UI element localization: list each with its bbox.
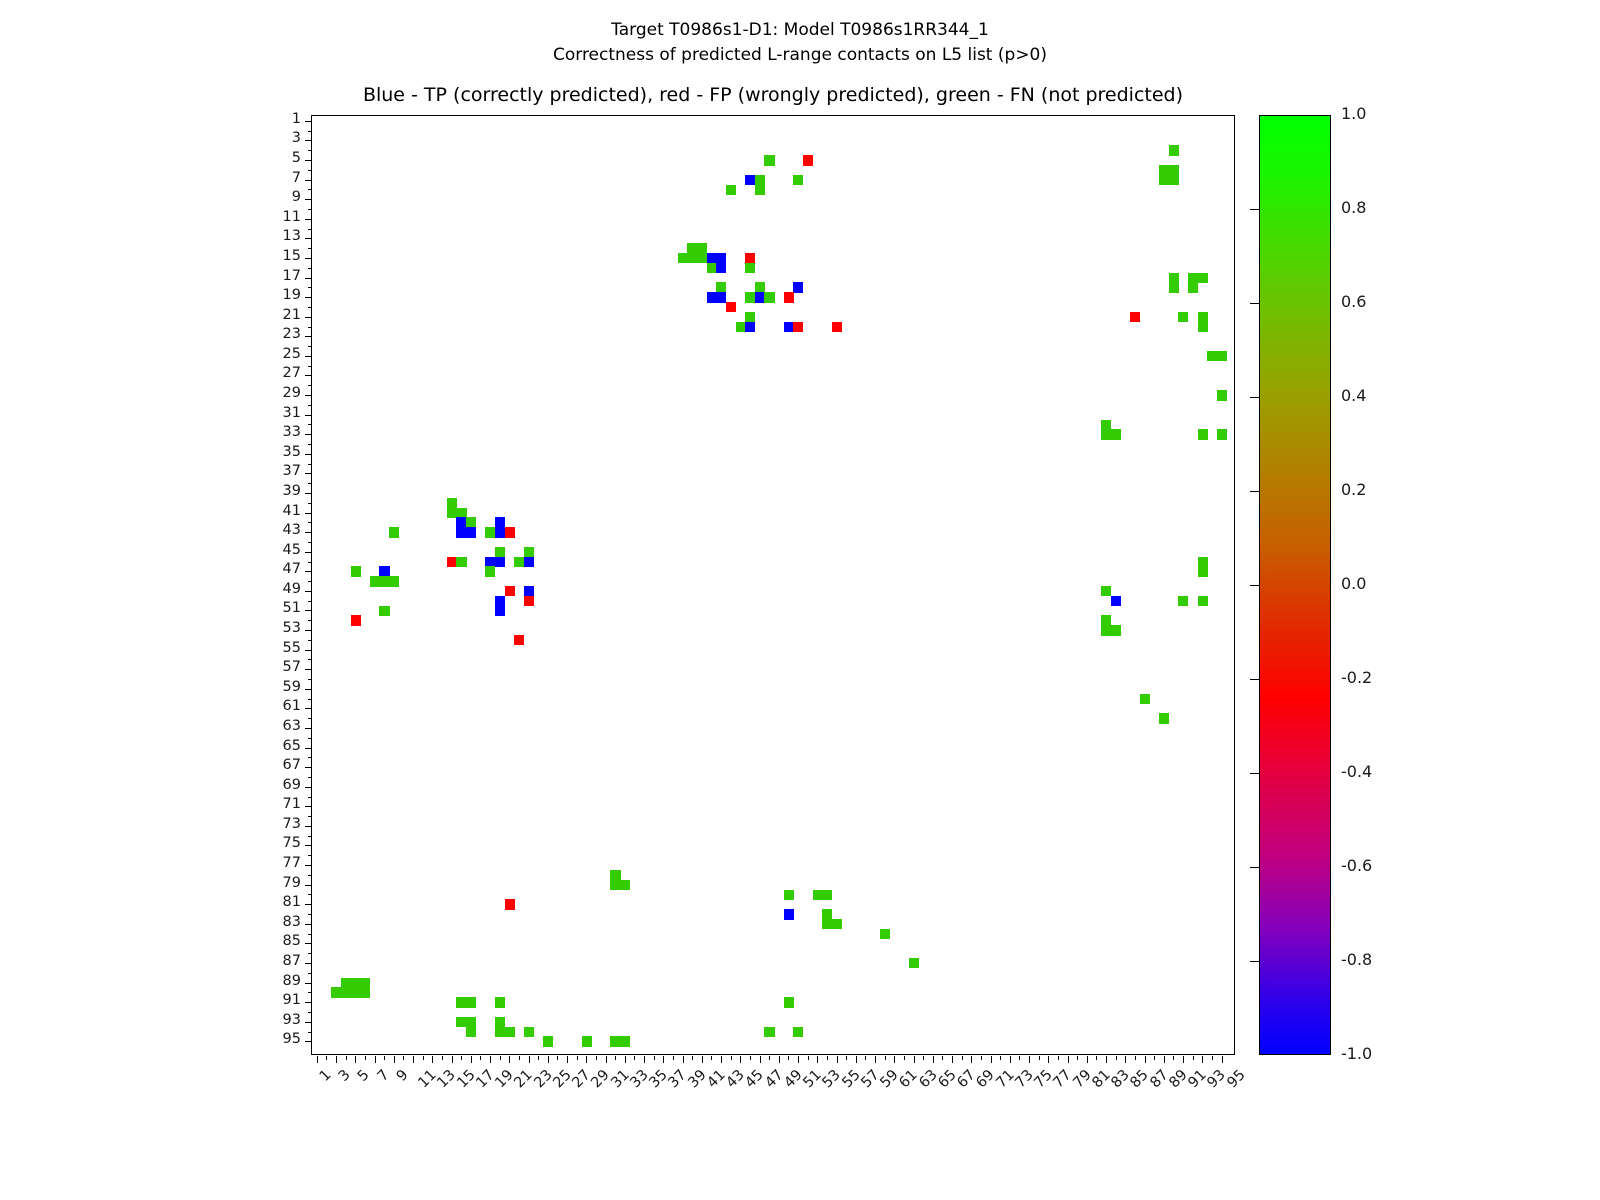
x-tick [317, 1056, 318, 1063]
x-tick-label: 95 [1224, 1067, 1248, 1091]
x-minor-tick [788, 1056, 789, 1060]
y-tick-label: 27 [253, 365, 301, 381]
contact-cell-tp [716, 263, 726, 273]
contact-cell-fp [784, 292, 794, 302]
x-tick [471, 1056, 472, 1063]
colorbar-tick-label: -0.8 [1341, 950, 1372, 969]
contact-cell-fn [1188, 282, 1198, 292]
y-tick-label: 9 [253, 189, 301, 205]
y-tick-label: 43 [253, 522, 301, 538]
y-tick [305, 983, 312, 984]
x-minor-tick [615, 1056, 616, 1060]
x-tick [1048, 1056, 1049, 1063]
contact-cell-fn [745, 263, 755, 273]
x-minor-tick [1173, 1056, 1174, 1060]
x-minor-tick [1000, 1056, 1001, 1060]
title-line-2: Correctness of predicted L-range contact… [0, 43, 1600, 68]
y-minor-tick [308, 992, 312, 993]
x-tick [1068, 1056, 1069, 1063]
y-tick [305, 317, 312, 318]
contact-map-figure: Target T0986s1-D1: Model T0986s1RR344_1 … [0, 0, 1600, 1200]
y-tick-label: 5 [253, 150, 301, 166]
contact-cell-tp [784, 909, 794, 919]
contact-cell-tp [495, 606, 505, 616]
y-tick-label: 19 [253, 287, 301, 303]
contact-cell-fp [726, 302, 736, 312]
x-minor-tick [1096, 1056, 1097, 1060]
contact-cell-fn [1169, 175, 1179, 185]
y-tick-label: 39 [253, 483, 301, 499]
contact-cell-fn [755, 185, 765, 195]
x-tick [683, 1056, 684, 1063]
x-tick [548, 1056, 549, 1063]
y-tick-label: 11 [253, 209, 301, 225]
y-minor-tick [308, 953, 312, 954]
contact-cell-fn [764, 292, 774, 302]
x-tick [567, 1056, 568, 1063]
y-tick [305, 669, 312, 670]
x-tick [1125, 1056, 1126, 1063]
contact-cell-fn [351, 566, 361, 576]
y-minor-tick [308, 836, 312, 837]
contact-cell-fn [726, 185, 736, 195]
contact-cell-fn [1159, 713, 1169, 723]
x-minor-tick [654, 1056, 655, 1060]
y-tick-label: 51 [253, 600, 301, 616]
y-tick [305, 552, 312, 553]
contact-cell-fn [832, 919, 842, 929]
y-tick [305, 845, 312, 846]
contact-cell-fn [909, 958, 919, 968]
contact-cell-fn [1178, 312, 1188, 322]
x-minor-tick [365, 1056, 366, 1060]
figure-title: Target T0986s1-D1: Model T0986s1RR344_1 … [0, 18, 1600, 68]
y-tick [305, 336, 312, 337]
colorbar-tick [1250, 773, 1259, 774]
y-minor-tick [308, 307, 312, 308]
contact-cell-fn [466, 997, 476, 1007]
colorbar-tick-label: -1.0 [1341, 1044, 1372, 1063]
y-tick [305, 826, 312, 827]
contact-cell-fp [505, 586, 515, 596]
x-tick [837, 1056, 838, 1063]
y-tick-label: 65 [253, 738, 301, 754]
x-minor-tick [942, 1056, 943, 1060]
y-tick [305, 748, 312, 749]
contact-cell-fn [784, 890, 794, 900]
x-tick [606, 1056, 607, 1063]
colorbar-tick-label: 1.0 [1341, 104, 1366, 123]
x-tick [933, 1056, 934, 1063]
x-minor-tick [1058, 1056, 1059, 1060]
contact-cell-fn [389, 527, 399, 537]
x-minor-tick [1212, 1056, 1213, 1060]
y-minor-tick [308, 366, 312, 367]
contact-cell-fn [466, 1027, 476, 1037]
y-tick [305, 434, 312, 435]
contact-cell-fn [456, 557, 466, 567]
x-minor-tick [1116, 1056, 1117, 1060]
contact-cell-fp [514, 635, 524, 645]
x-tick-label: 7 [374, 1067, 392, 1085]
x-minor-tick [577, 1056, 578, 1060]
x-tick-label: 5 [355, 1067, 373, 1085]
y-tick [305, 258, 312, 259]
contact-cell-fn [1198, 322, 1208, 332]
x-minor-tick [346, 1056, 347, 1060]
x-tick [432, 1056, 433, 1063]
x-tick [355, 1056, 356, 1063]
x-tick [817, 1056, 818, 1063]
contact-map-plot-area[interactable] [311, 115, 1235, 1055]
y-minor-tick [308, 209, 312, 210]
colorbar-tick [1250, 491, 1259, 492]
y-minor-tick [308, 699, 312, 700]
y-tick-label: 73 [253, 816, 301, 832]
x-tick [991, 1056, 992, 1063]
colorbar-tick-label: 0.2 [1341, 480, 1366, 499]
contact-cell-fn [389, 576, 399, 586]
y-tick-label: 67 [253, 757, 301, 773]
y-tick-label: 31 [253, 405, 301, 421]
y-tick [305, 1022, 312, 1023]
y-tick-label: 45 [253, 542, 301, 558]
contact-cell-fn [1217, 429, 1227, 439]
x-tick [336, 1056, 337, 1063]
x-tick [1010, 1056, 1011, 1063]
y-tick [305, 708, 312, 709]
y-minor-tick [308, 131, 312, 132]
x-minor-tick [557, 1056, 558, 1060]
x-minor-tick [538, 1056, 539, 1060]
y-minor-tick [308, 424, 312, 425]
y-minor-tick [308, 483, 312, 484]
colorbar-tick [1250, 679, 1259, 680]
y-tick [305, 963, 312, 964]
y-minor-tick [308, 1012, 312, 1013]
y-minor-tick [308, 464, 312, 465]
y-minor-tick [308, 1032, 312, 1033]
y-minor-tick [308, 914, 312, 915]
y-tick-label: 21 [253, 307, 301, 323]
y-minor-tick [308, 718, 312, 719]
contact-cell-fn [793, 175, 803, 185]
y-tick [305, 630, 312, 631]
contact-cell-fn [582, 1036, 592, 1046]
y-tick [305, 356, 312, 357]
colorbar-tick [1250, 209, 1259, 210]
y-minor-tick [308, 444, 312, 445]
y-tick-label: 85 [253, 933, 301, 949]
x-minor-tick [923, 1056, 924, 1060]
y-minor-tick [308, 248, 312, 249]
x-tick [1087, 1056, 1088, 1063]
y-minor-tick [308, 150, 312, 151]
y-tick-label: 71 [253, 796, 301, 812]
y-tick-label: 93 [253, 1012, 301, 1028]
contact-cell-tp [524, 557, 534, 567]
x-tick [760, 1056, 761, 1063]
y-tick [305, 1002, 312, 1003]
y-tick [305, 904, 312, 905]
y-minor-tick [308, 797, 312, 798]
y-tick-label: 79 [253, 875, 301, 891]
contact-cell-fn [379, 606, 389, 616]
y-tick-label: 35 [253, 444, 301, 460]
x-tick [644, 1056, 645, 1063]
y-minor-tick [308, 522, 312, 523]
contact-cell-fn [880, 929, 890, 939]
contact-cell-fn [1198, 566, 1208, 576]
y-tick [305, 297, 312, 298]
y-tick-label: 89 [253, 973, 301, 989]
y-minor-tick [308, 405, 312, 406]
y-tick [305, 865, 312, 866]
y-tick [305, 650, 312, 651]
contact-cell-fn [1169, 145, 1179, 155]
y-tick-label: 87 [253, 953, 301, 969]
y-tick [305, 454, 312, 455]
x-minor-tick [750, 1056, 751, 1060]
y-tick-label: 77 [253, 855, 301, 871]
colorbar [1259, 115, 1331, 1055]
x-minor-tick [1154, 1056, 1155, 1060]
colorbar-tick [1250, 867, 1259, 868]
x-tick [1183, 1056, 1184, 1063]
y-minor-tick [308, 679, 312, 680]
contact-cell-fn [495, 997, 505, 1007]
contact-cell-fn [764, 1027, 774, 1037]
x-tick [490, 1056, 491, 1063]
x-minor-tick [461, 1056, 462, 1060]
y-tick [305, 199, 312, 200]
contact-cell-fn [485, 566, 495, 576]
y-tick-label: 63 [253, 718, 301, 734]
contact-cell-fp [803, 155, 813, 165]
x-minor-tick [865, 1056, 866, 1060]
contact-cell-fp [351, 615, 361, 625]
x-minor-tick [403, 1056, 404, 1060]
y-tick-label: 69 [253, 777, 301, 793]
y-tick-label: 23 [253, 326, 301, 342]
y-minor-tick [308, 346, 312, 347]
y-minor-tick [308, 875, 312, 876]
contact-cell-fn [524, 1027, 534, 1037]
contact-cell-tp [1111, 596, 1121, 606]
x-minor-tick [1019, 1056, 1020, 1060]
y-minor-tick [308, 855, 312, 856]
x-minor-tick [711, 1056, 712, 1060]
y-minor-tick [308, 659, 312, 660]
y-tick [305, 219, 312, 220]
y-minor-tick [308, 503, 312, 504]
x-minor-tick [769, 1056, 770, 1060]
y-tick [305, 375, 312, 376]
y-minor-tick [308, 894, 312, 895]
x-tick [529, 1056, 530, 1063]
contact-cell-fn [1217, 351, 1227, 361]
contact-cell-fn [1111, 429, 1121, 439]
y-tick-label: 29 [253, 385, 301, 401]
x-tick [856, 1056, 857, 1063]
colorbar-tick-label: 0.4 [1341, 386, 1366, 405]
y-minor-tick [308, 640, 312, 641]
y-minor-tick [308, 268, 312, 269]
y-tick-label: 61 [253, 698, 301, 714]
y-minor-tick [308, 620, 312, 621]
contact-cell-fn [1198, 429, 1208, 439]
x-tick [413, 1056, 414, 1063]
y-tick-label: 55 [253, 640, 301, 656]
y-minor-tick [308, 170, 312, 171]
x-tick [375, 1056, 376, 1063]
x-minor-tick [326, 1056, 327, 1060]
contact-cell-fn [505, 1027, 515, 1037]
x-minor-tick [885, 1056, 886, 1060]
x-tick [914, 1056, 915, 1063]
x-tick [875, 1056, 876, 1063]
contact-cell-fp [1130, 312, 1140, 322]
x-minor-tick [962, 1056, 963, 1060]
x-minor-tick [634, 1056, 635, 1060]
y-tick-label: 49 [253, 581, 301, 597]
y-tick-label: 7 [253, 170, 301, 186]
y-tick [305, 767, 312, 768]
x-tick [1145, 1056, 1146, 1063]
y-minor-tick [308, 601, 312, 602]
x-minor-tick [1039, 1056, 1040, 1060]
contact-cell-fn [1217, 390, 1227, 400]
x-tick-label: 3 [336, 1067, 354, 1085]
colorbar-tick-label: 0.6 [1341, 292, 1366, 311]
y-tick [305, 532, 312, 533]
y-tick-label: 57 [253, 659, 301, 675]
contact-cell-fp [793, 322, 803, 332]
y-tick-label: 83 [253, 914, 301, 930]
x-tick [625, 1056, 626, 1063]
y-tick-label: 75 [253, 835, 301, 851]
x-minor-tick [808, 1056, 809, 1060]
y-tick [305, 943, 312, 944]
y-minor-tick [308, 934, 312, 935]
colorbar-tick [1250, 585, 1259, 586]
x-minor-tick [442, 1056, 443, 1060]
x-tick [1106, 1056, 1107, 1063]
x-minor-tick [731, 1056, 732, 1060]
colorbar-tick [1250, 961, 1259, 962]
colorbar-tick [1250, 397, 1259, 398]
contact-cell-fn [1198, 596, 1208, 606]
colorbar-tick-label: 0.8 [1341, 198, 1366, 217]
x-tick-label: 1 [317, 1067, 335, 1085]
legend-caption: Blue - TP (correctly predicted), red - F… [311, 84, 1235, 106]
y-minor-tick [308, 542, 312, 543]
y-minor-tick [308, 385, 312, 386]
x-tick [1029, 1056, 1030, 1063]
y-minor-tick [308, 777, 312, 778]
contact-cell-tp [466, 527, 476, 537]
y-tick [305, 689, 312, 690]
x-minor-tick [846, 1056, 847, 1060]
contact-cell-fn [1178, 596, 1188, 606]
y-tick-label: 53 [253, 620, 301, 636]
y-tick [305, 140, 312, 141]
contact-cell-fp [832, 322, 842, 332]
y-tick [305, 238, 312, 239]
contact-cell-fn [764, 155, 774, 165]
y-tick [305, 1041, 312, 1042]
x-minor-tick [1077, 1056, 1078, 1060]
y-tick-label: 37 [253, 463, 301, 479]
contact-cell-tp [793, 282, 803, 292]
y-tick [305, 493, 312, 494]
x-tick-label: 9 [394, 1067, 412, 1085]
contact-cell-fn [1198, 273, 1208, 283]
x-tick [894, 1056, 895, 1063]
y-tick [305, 787, 312, 788]
y-minor-tick [308, 816, 312, 817]
y-minor-tick [308, 973, 312, 974]
x-tick [971, 1056, 972, 1063]
x-minor-tick [904, 1056, 905, 1060]
y-tick [305, 591, 312, 592]
y-tick-label: 17 [253, 268, 301, 284]
x-minor-tick [480, 1056, 481, 1060]
y-tick-label: 33 [253, 424, 301, 440]
colorbar-tick [1250, 303, 1259, 304]
x-tick [779, 1056, 780, 1063]
y-tick-label: 95 [253, 1031, 301, 1047]
x-minor-tick [596, 1056, 597, 1060]
y-tick [305, 180, 312, 181]
y-minor-tick [308, 287, 312, 288]
contact-cell-fp [505, 527, 515, 537]
y-tick [305, 473, 312, 474]
contact-cell-tp [495, 557, 505, 567]
x-tick [952, 1056, 953, 1063]
x-tick [721, 1056, 722, 1063]
y-minor-tick [308, 229, 312, 230]
y-tick [305, 924, 312, 925]
x-tick [509, 1056, 510, 1063]
y-tick [305, 513, 312, 514]
y-tick-label: 25 [253, 346, 301, 362]
y-minor-tick [308, 581, 312, 582]
x-tick [1164, 1056, 1165, 1063]
y-tick-label: 1 [253, 111, 301, 127]
colorbar-tick-label: 0.0 [1341, 574, 1366, 593]
contact-cells-layer [312, 116, 1234, 1054]
x-minor-tick [519, 1056, 520, 1060]
x-minor-tick [692, 1056, 693, 1060]
y-tick [305, 415, 312, 416]
contact-cell-fn [784, 997, 794, 1007]
x-minor-tick [384, 1056, 385, 1060]
y-tick [305, 395, 312, 396]
y-minor-tick [308, 189, 312, 190]
y-tick [305, 728, 312, 729]
x-tick [1202, 1056, 1203, 1063]
x-tick [1222, 1056, 1223, 1063]
contact-cell-fn [543, 1036, 553, 1046]
x-minor-tick [1193, 1056, 1194, 1060]
y-tick-label: 13 [253, 228, 301, 244]
colorbar-tick-label: -0.6 [1341, 856, 1372, 875]
x-tick [586, 1056, 587, 1063]
y-minor-tick [308, 327, 312, 328]
x-tick [452, 1056, 453, 1063]
contact-cell-fn [1169, 282, 1179, 292]
